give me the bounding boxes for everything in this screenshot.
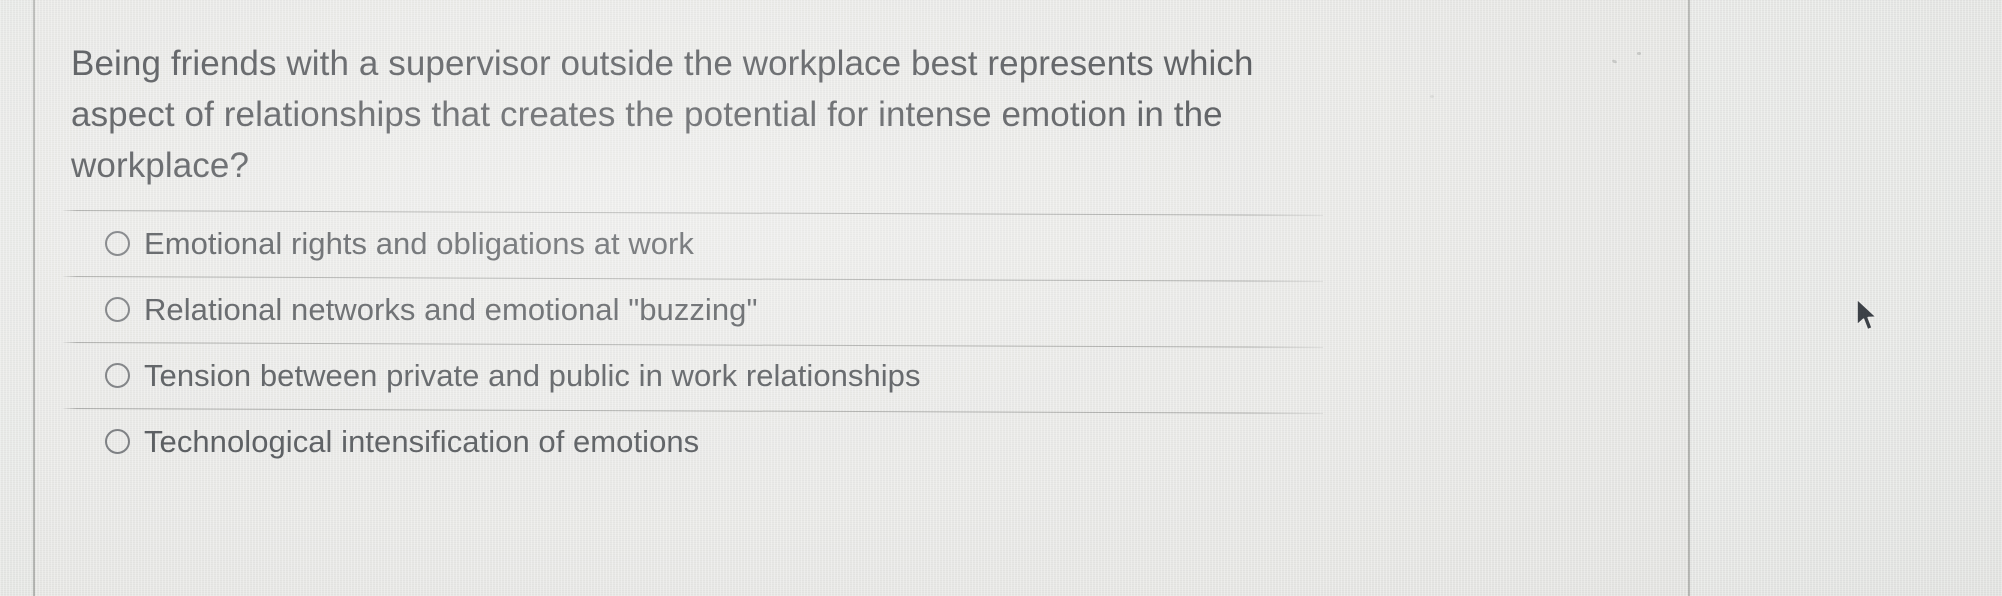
answer-option-1[interactable]: Emotional rights and obligations at work — [63, 211, 1323, 276]
radio-button-icon-3[interactable] — [105, 363, 130, 388]
answer-option-2[interactable]: Relational networks and emotional "buzzi… — [63, 277, 1323, 342]
quiz-question-screen: Being friends with a supervisor outside … — [0, 0, 2002, 596]
radio-button-icon-2[interactable] — [105, 297, 130, 322]
answer-option-label-4: Technological intensification of emotion… — [144, 424, 699, 460]
answer-options-list: Emotional rights and obligations at work… — [63, 210, 1323, 474]
answer-option-label-1: Emotional rights and obligations at work — [144, 226, 694, 262]
right-gutter — [1690, 0, 2002, 596]
question-text: Being friends with a supervisor outside … — [71, 38, 1271, 191]
answer-option-3[interactable]: Tension between private and public in wo… — [63, 343, 1323, 408]
radio-button-icon-1[interactable] — [105, 231, 130, 256]
radio-button-icon-4[interactable] — [105, 429, 130, 454]
answer-option-4[interactable]: Technological intensification of emotion… — [63, 409, 1323, 474]
answer-option-label-2: Relational networks and emotional "buzzi… — [144, 292, 758, 328]
right-vertical-rule — [1688, 0, 1690, 596]
left-gutter — [0, 0, 33, 596]
answer-option-label-3: Tension between private and public in wo… — [144, 358, 921, 394]
question-content-area: Being friends with a supervisor outside … — [35, 0, 1688, 596]
